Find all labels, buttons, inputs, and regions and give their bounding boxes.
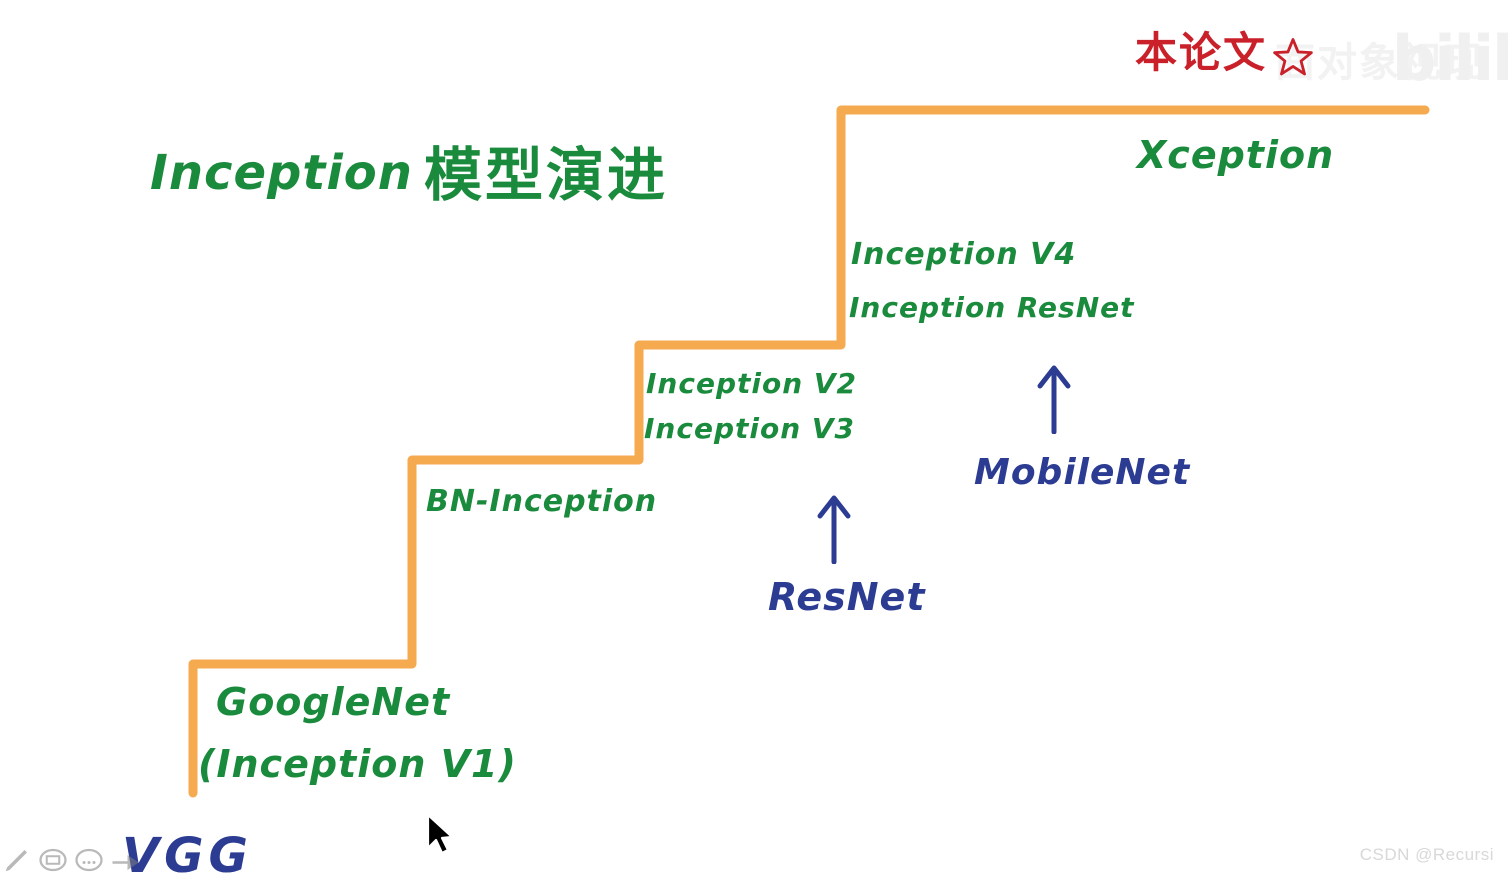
current-paper-label: 本论文 [1135,32,1267,74]
bilibili-watermark: bilib [1392,22,1508,95]
base-label-vgg: VGG [122,832,253,875]
step-label-inception-v1: (Inception V1) [198,745,517,783]
step-label-inception-v2: Inception V2 [646,370,857,398]
annotation-label-resnet: ResNet [768,578,926,616]
pen-icon[interactable] [2,845,32,875]
shape-icon[interactable] [38,845,68,875]
page-title-latin: Inception [150,145,413,201]
arrow-up-icon-mobilenet [1028,362,1080,434]
arrow-icon[interactable] [110,845,140,875]
page-title-cjk: 模型演进 [424,141,668,209]
step-label-googlenet: GoogleNet [216,683,450,721]
mouse-cursor [424,812,458,858]
annotation-label-mobilenet: MobileNet [974,455,1190,491]
step-label-xception: Xception [1137,136,1334,174]
step-label-inception-resnet: Inception ResNet [849,294,1135,322]
step-label-inception-v4: Inception V4 [851,240,1076,270]
step-label-inception-v3: Inception V3 [644,415,855,443]
whiteboard-canvas: 面对象视现 bilib Inception 模型演进 本论文 Xception … [0,0,1508,875]
drawing-toolbar[interactable] [0,841,140,875]
ellipse-icon[interactable] [74,845,104,875]
star-icon [1272,36,1314,78]
arrow-up-icon-resnet [808,492,860,564]
csdn-watermark: CSDN @Recursi [1360,845,1494,865]
step-label-bn-inception: BN-Inception [426,487,657,517]
page-title: Inception 模型演进 [150,140,662,198]
